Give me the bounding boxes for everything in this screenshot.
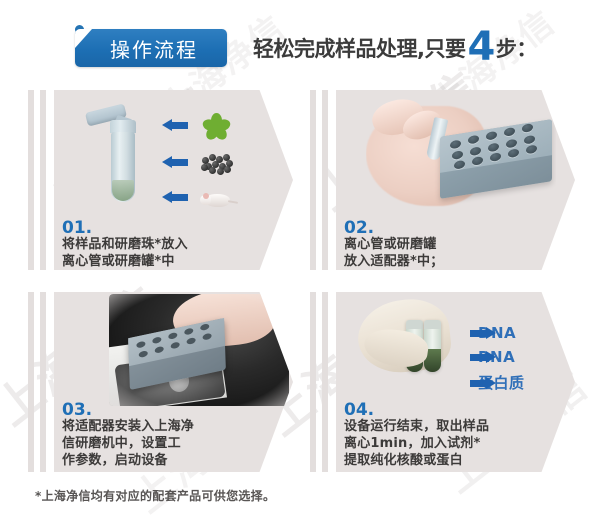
output-row-protein: 蛋白质 — [470, 372, 525, 393]
leaf-sample-icon — [202, 111, 230, 137]
card-body: 03. 将适配器安装入上海净 信研磨机中，设置工 作参数，启动设备 — [54, 292, 293, 472]
card-accent-bar-outer — [310, 292, 316, 472]
centrifuge-tube-icon — [102, 108, 144, 203]
step-number-04: 04. — [344, 400, 374, 420]
headline-suffix: 步： — [496, 33, 537, 63]
step-number-03: 03. — [62, 400, 92, 420]
arrow-left-icon-2 — [162, 156, 188, 168]
step-card-grid: 01. 将样品和研磨珠*放入 离心管或研磨罐*中 — [0, 84, 600, 484]
process-flow-infographic: 操作流程 轻松完成样品处理,只要 4 步： — [0, 0, 600, 526]
arrow-left-icon-3 — [162, 191, 188, 203]
card-body: 02. 离心管或研磨罐 放入适配器*中； — [336, 90, 575, 270]
card-accent-bar-inner — [322, 90, 328, 270]
card-accent-bar-inner — [322, 292, 328, 472]
headline-step-count: 4 — [467, 31, 494, 63]
mouse-sample-icon — [200, 189, 234, 209]
headline-prefix: 轻松完成样品处理,只要 — [253, 33, 465, 63]
arrow-left-icon-1 — [162, 119, 188, 131]
arrow-right-icon-protein — [470, 377, 496, 389]
grinder-installation-photo — [109, 294, 289, 406]
step-number-02: 02. — [344, 218, 374, 238]
header: 操作流程 轻松完成样品处理,只要 4 步： — [0, 0, 600, 84]
gloved-hand-tubes-photo — [358, 300, 468, 400]
output-row-dna: DNA — [470, 324, 516, 342]
step-text-04: 设备运行结束，取出样品 离心1min，加入试剂* 提取纯化核酸或蛋白 — [344, 418, 489, 469]
card-body: DNA RNA 蛋白质 04. 设备运行结束，取出样品 离心1min，加入试剂*… — [336, 292, 575, 472]
card-accent-bar-outer — [28, 292, 34, 472]
arrow-right-icon-dna — [470, 327, 496, 339]
hand-loading-adapter-photo — [366, 96, 556, 208]
page-title: 轻松完成样品处理,只要 4 步： — [253, 27, 537, 63]
arrow-right-icon-rna — [470, 351, 496, 363]
step-text-01: 将样品和研磨珠*放入 离心管或研磨罐*中 — [62, 236, 188, 270]
card-accent-bar-inner — [40, 292, 46, 472]
card-body: 01. 将样品和研磨珠*放入 离心管或研磨罐*中 — [54, 90, 293, 270]
footnote: *上海净信均有对应的配套产品可供您选择。 — [35, 487, 275, 504]
step-card-04: DNA RNA 蛋白质 04. 设备运行结束，取出样品 离心1min，加入试剂*… — [310, 292, 575, 472]
card-accent-bar-inner — [40, 90, 46, 270]
grinding-beads-icon — [200, 152, 234, 172]
output-row-rna: RNA — [470, 348, 515, 366]
step-text-03: 将适配器安装入上海净 信研磨机中，设置工 作参数，启动设备 — [62, 418, 194, 469]
step-card-01: 01. 将样品和研磨珠*放入 离心管或研磨罐*中 — [28, 90, 293, 270]
step-card-03: 03. 将适配器安装入上海净 信研磨机中，设置工 作参数，启动设备 — [28, 292, 293, 472]
card-accent-bar-outer — [28, 90, 34, 270]
card-accent-bar-outer — [310, 90, 316, 270]
step-card-02: 02. 离心管或研磨罐 放入适配器*中； — [310, 90, 575, 270]
step-number-01: 01. — [62, 218, 92, 238]
section-banner-label: 操作流程 — [75, 29, 227, 67]
step-text-02: 离心管或研磨罐 放入适配器*中； — [344, 236, 443, 270]
